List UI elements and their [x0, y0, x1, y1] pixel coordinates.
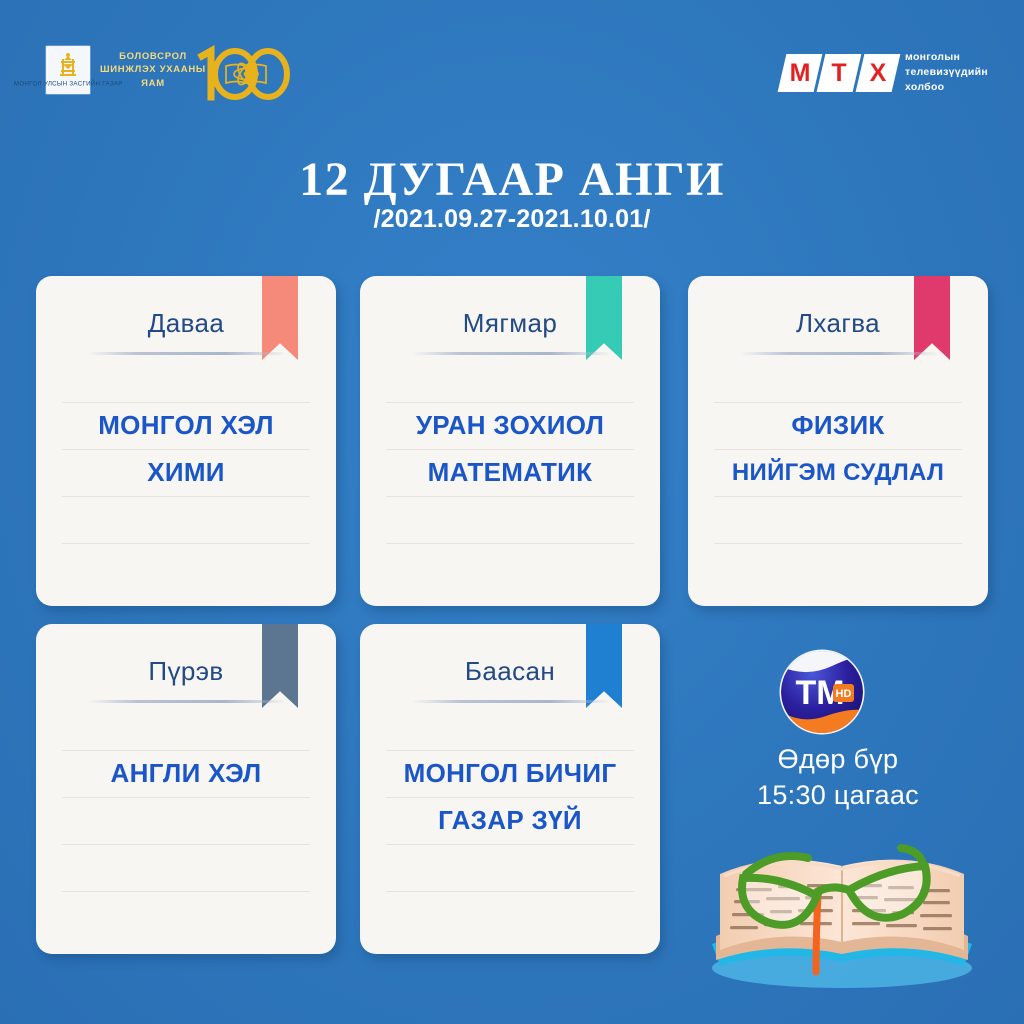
subject-item: ХИМИ — [46, 449, 326, 496]
broadcast-schedule: Өдөр бүр 15:30 цагаас — [688, 742, 988, 813]
subject-item: МОНГОЛ БИЧИГ — [370, 750, 650, 797]
day-underline — [88, 352, 284, 355]
day-label: Пүрэв — [36, 656, 336, 687]
subject-item: МАТЕМАТИК — [370, 449, 650, 496]
day-underline — [88, 700, 284, 703]
subject-item: МОНГОЛ ХЭЛ — [46, 402, 326, 449]
subject-item: НИЙГЭМ СУДЛАЛ — [698, 449, 978, 496]
day-label: Даваа — [36, 308, 336, 339]
soyombo-glyph-icon — [58, 53, 78, 79]
broadcaster-name: монголын телевизүүдийн холбоо — [905, 50, 988, 96]
subject-item — [46, 797, 326, 844]
subject-item: УРАН ЗОХИОЛ — [370, 402, 650, 449]
poster-canvas: МОНГОЛ УЛСЫН ЗАСГИЙН ГАЗАР БОЛОВСРОЛ ШИН… — [0, 0, 1024, 1024]
soyombo-emblem-icon: МОНГОЛ УЛСЫН ЗАСГИЙН ГАЗАР — [46, 46, 90, 94]
subject-item: ГАЗАР ЗҮЙ — [370, 797, 650, 844]
tm-hd-channel-logo-icon: TM HD — [778, 648, 866, 736]
subject-item: ФИЗИК — [698, 402, 978, 449]
subject-list: ФИЗИК НИЙГЭМ СУДЛАЛ — [698, 402, 978, 496]
schedule-line-2: 15:30 цагаас — [688, 778, 988, 814]
subject-item: АНГЛИ ХЭЛ — [46, 750, 326, 797]
mtx-logo-icon: М Т Х — [782, 54, 896, 92]
subject-list: АНГЛИ ХЭЛ — [46, 750, 326, 844]
day-label: Мягмар — [360, 308, 660, 339]
hundred-years-book-atom-icon — [190, 42, 290, 104]
ministry-logo: МОНГОЛ УЛСЫН ЗАСГИЙН ГАЗАР БОЛОВСРОЛ ШИН… — [46, 46, 206, 94]
hd-badge-text: HD — [836, 688, 852, 700]
mtx-letter-1: М — [778, 54, 823, 92]
broadcaster-name-line-1: монголын — [905, 50, 988, 65]
broadcaster-logo: М Т Х монголын телевизүүдийн холбоо — [782, 50, 988, 96]
subject-list: МОНГОЛ БИЧИГ ГАЗАР ЗҮЙ — [370, 750, 650, 844]
broadcaster-name-line-2: телевизүүдийн — [905, 65, 988, 80]
page-subtitle: /2021.09.27-2021.10.01/ — [0, 205, 1024, 234]
broadcaster-name-line-3: холбоо — [905, 80, 988, 95]
subject-list: МОНГОЛ ХЭЛ ХИМИ — [46, 402, 326, 496]
page-title: 12 ДУГААР АНГИ — [0, 152, 1024, 207]
day-underline — [412, 352, 608, 355]
schedule-card-friday[interactable]: Баасан МОНГОЛ БИЧИГ ГАЗАР ЗҮЙ — [360, 624, 660, 954]
schedule-line-1: Өдөр бүр — [688, 742, 988, 778]
schedule-card-tuesday[interactable]: Мягмар УРАН ЗОХИОЛ МАТЕМАТИК — [360, 276, 660, 606]
day-underline — [740, 352, 936, 355]
schedule-card-monday[interactable]: Даваа МОНГОЛ ХЭЛ ХИМИ — [36, 276, 336, 606]
day-label: Баасан — [360, 656, 660, 687]
subject-list: УРАН ЗОХИОЛ МАТЕМАТИК — [370, 402, 650, 496]
mtx-letter-2: Т — [817, 54, 862, 92]
emblem-caption: МОНГОЛ УЛСЫН ЗАСГИЙН ГАЗАР — [14, 80, 123, 88]
schedule-card-wednesday[interactable]: Лхагва ФИЗИК НИЙГЭМ СУДЛАЛ — [688, 276, 988, 606]
day-underline — [412, 700, 608, 703]
day-label: Лхагва — [688, 308, 988, 339]
mtx-letter-3: Х — [856, 54, 901, 92]
open-book-with-glasses-icon — [694, 836, 990, 1006]
schedule-card-thursday[interactable]: Пүрэв АНГЛИ ХЭЛ — [36, 624, 336, 954]
